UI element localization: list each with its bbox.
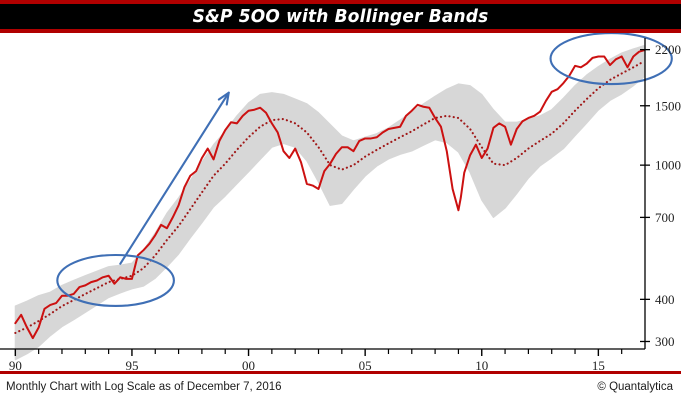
x-axis-tick-15: 15	[592, 358, 605, 370]
x-axis-tick-90: 90	[9, 358, 22, 370]
bollinger-band-fill	[15, 46, 644, 360]
footer-source-note: Monthly Chart with Log Scale as of Decem…	[6, 381, 282, 393]
chart-footer: Monthly Chart with Log Scale as of Decem…	[0, 374, 681, 400]
chart-svg: 300400700100015002200 909500051015	[0, 33, 681, 370]
y-axis-tick-300: 300	[655, 334, 675, 349]
chart-plot-area: 300400700100015002200 909500051015	[0, 33, 681, 370]
chart-axes	[0, 38, 650, 356]
y-axis-tick-1500: 1500	[655, 98, 681, 113]
chart-screenshot: S&P 5OO with Bollinger Bands 30040070010…	[0, 0, 681, 400]
chart-title: S&P 5OO with Bollinger Bands	[193, 7, 489, 27]
x-axis-tick-95: 95	[125, 358, 138, 370]
x-axis-tick-05: 05	[359, 358, 372, 370]
footer-copyright: © Quantalytica	[597, 381, 673, 393]
y-axis-tick-700: 700	[655, 210, 675, 225]
y-axis-tick-2200: 2200	[655, 42, 681, 57]
y-axis-tick-1000: 1000	[655, 158, 681, 173]
x-axis-tick-labels: 909500051015	[9, 358, 605, 370]
chart-header-band: S&P 5OO with Bollinger Bands	[0, 0, 681, 33]
y-axis-tick-400: 400	[655, 292, 675, 307]
x-axis-tick-10: 10	[475, 358, 488, 370]
x-axis-tick-00: 00	[242, 358, 255, 370]
y-axis-tick-labels: 300400700100015002200	[655, 42, 681, 349]
